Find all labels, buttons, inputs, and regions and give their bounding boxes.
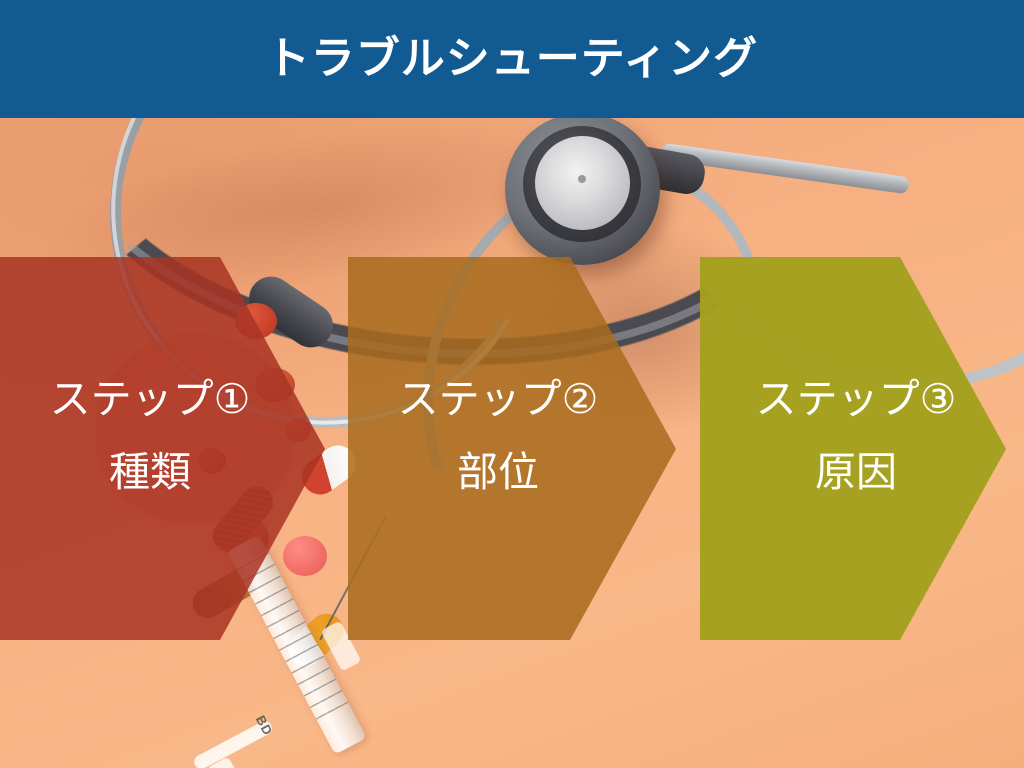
chevron-shape-step-2[interactable] (348, 257, 676, 640)
chevron-shape-step-3[interactable] (700, 257, 1006, 640)
chevron-shape-step-1[interactable] (0, 257, 325, 640)
slide-canvas: BD ステップ① 種類 ステップ② 部位 ステップ③ 原因 トラブルシューティン… (0, 0, 1024, 768)
page-title: トラブルシューティング (266, 37, 758, 81)
title-banner: トラブルシューティング (0, 0, 1024, 118)
